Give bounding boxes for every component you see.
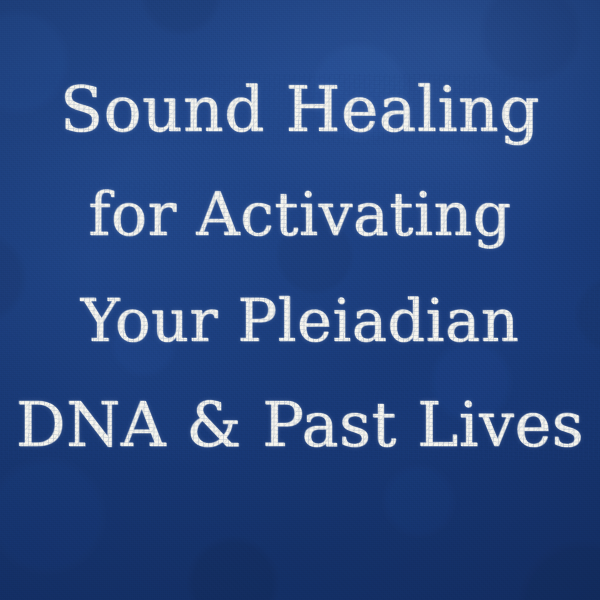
title-line-4: DNA & Past Lives [0,394,600,456]
poster-title-block: Sound Healing for Activating Your Pleiad… [0,78,600,456]
title-line-3: Your Pleiadian [0,291,600,350]
title-line-1: Sound Healing [0,78,600,141]
title-line-2: for Activating [0,185,600,245]
poster-canvas: Sound Healing for Activating Your Pleiad… [0,0,600,600]
